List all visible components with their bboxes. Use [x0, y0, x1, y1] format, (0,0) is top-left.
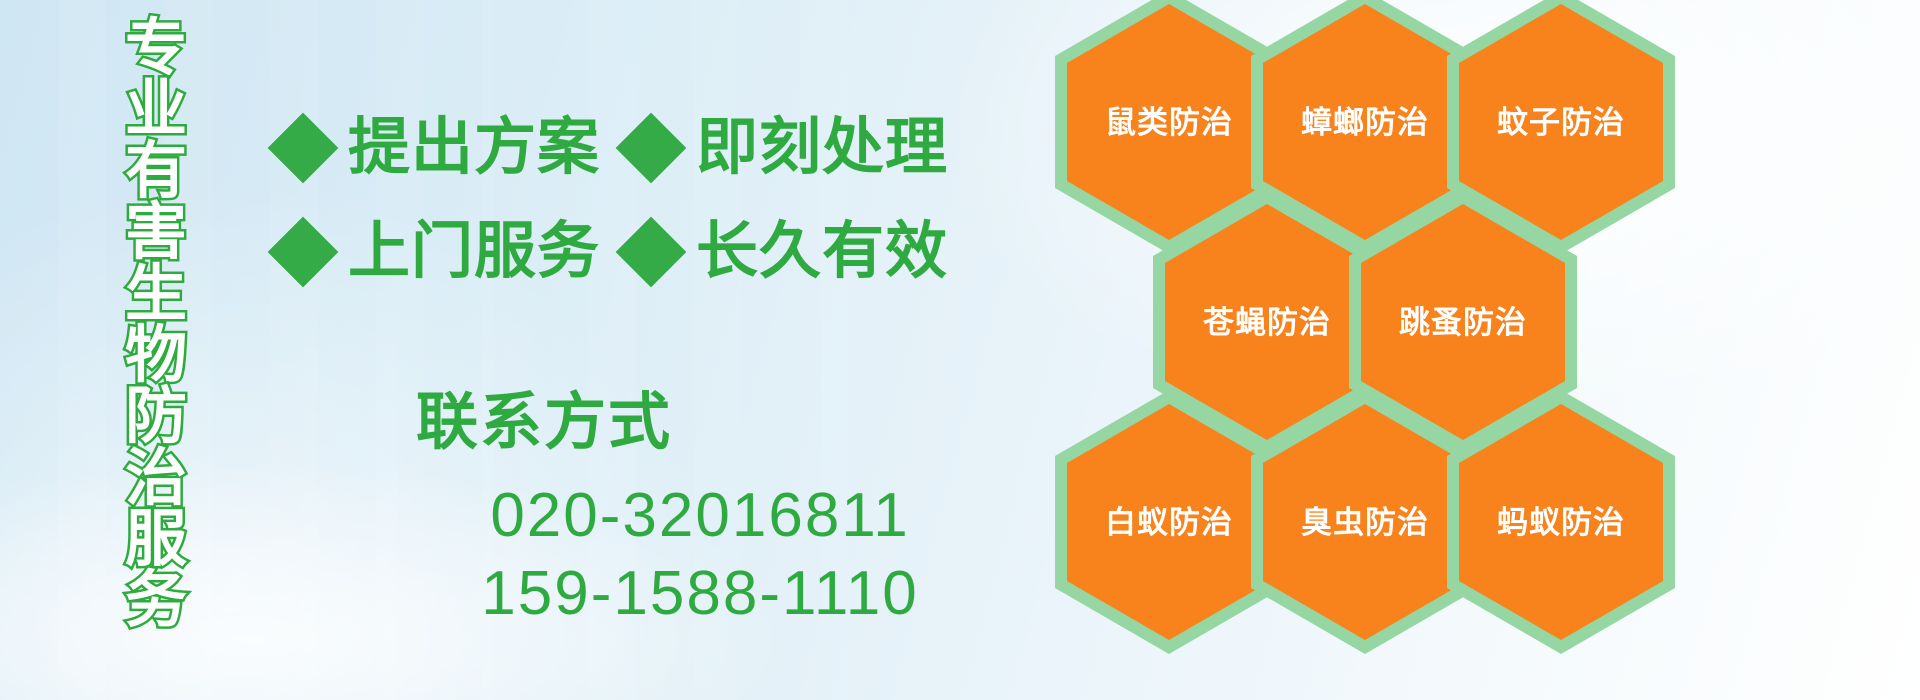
pest-control-banner: 专业有害生物防治服务 提出方案 即刻处理 上门服务 长久有效 联系方式: [0, 0, 1920, 700]
service-label: 蚊子防治: [1497, 107, 1625, 138]
service-label: 鼠类防治: [1105, 107, 1233, 138]
hexagon-inner: 蚂蚁防治: [1459, 404, 1663, 640]
feature-row: 提出方案 即刻处理: [278, 96, 1068, 200]
feature-label: 长久有效: [696, 221, 948, 283]
diamond-icon: [616, 217, 687, 288]
feature-label: 即刻处理: [696, 117, 948, 179]
service-label: 白蚁防治: [1105, 507, 1233, 538]
feature-item: 即刻处理: [626, 117, 948, 179]
service-label: 臭虫防治: [1301, 507, 1429, 538]
hexagon-inner: 白蚁防治: [1067, 404, 1271, 640]
feature-item: 提出方案: [278, 117, 600, 179]
service-label: 蚂蚁防治: [1497, 507, 1625, 538]
feature-label: 上门服务: [348, 221, 600, 283]
diamond-icon: [268, 217, 339, 288]
vertical-headline: 专业有害生物防治服务: [108, 18, 204, 678]
feature-label: 提出方案: [348, 117, 600, 179]
phone-number-landline[interactable]: 020-32016811: [380, 477, 1020, 555]
hexagon-inner: 跳蚤防治: [1361, 204, 1565, 440]
service-label: 跳蚤防治: [1399, 307, 1527, 338]
service-label: 蟑螂防治: [1301, 107, 1429, 138]
contact-block: 联系方式 020-32016811 159-1588-1110: [380, 390, 1020, 633]
phone-number-mobile[interactable]: 159-1588-1110: [380, 555, 1020, 633]
feature-row: 上门服务 长久有效: [278, 200, 1068, 304]
hexagon-inner: 鼠类防治: [1067, 4, 1271, 240]
hexagon-inner: 臭虫防治: [1263, 404, 1467, 640]
diamond-icon: [268, 113, 339, 184]
hexagon-inner: 蚊子防治: [1459, 4, 1663, 240]
hexagon-inner: 蟑螂防治: [1263, 4, 1467, 240]
feature-item: 长久有效: [626, 221, 948, 283]
diamond-icon: [616, 113, 687, 184]
contact-title: 联系方式: [380, 390, 1020, 455]
feature-list: 提出方案 即刻处理 上门服务 长久有效: [278, 96, 1068, 304]
feature-item: 上门服务: [278, 221, 600, 283]
service-hexagon-grid: 鼠类防治 蟑螂防治 蚊子防治 苍蝇防治 跳蚤防治 白蚁防治: [1055, 0, 1815, 700]
hexagon-inner: 苍蝇防治: [1165, 204, 1369, 440]
service-label: 苍蝇防治: [1203, 307, 1331, 338]
